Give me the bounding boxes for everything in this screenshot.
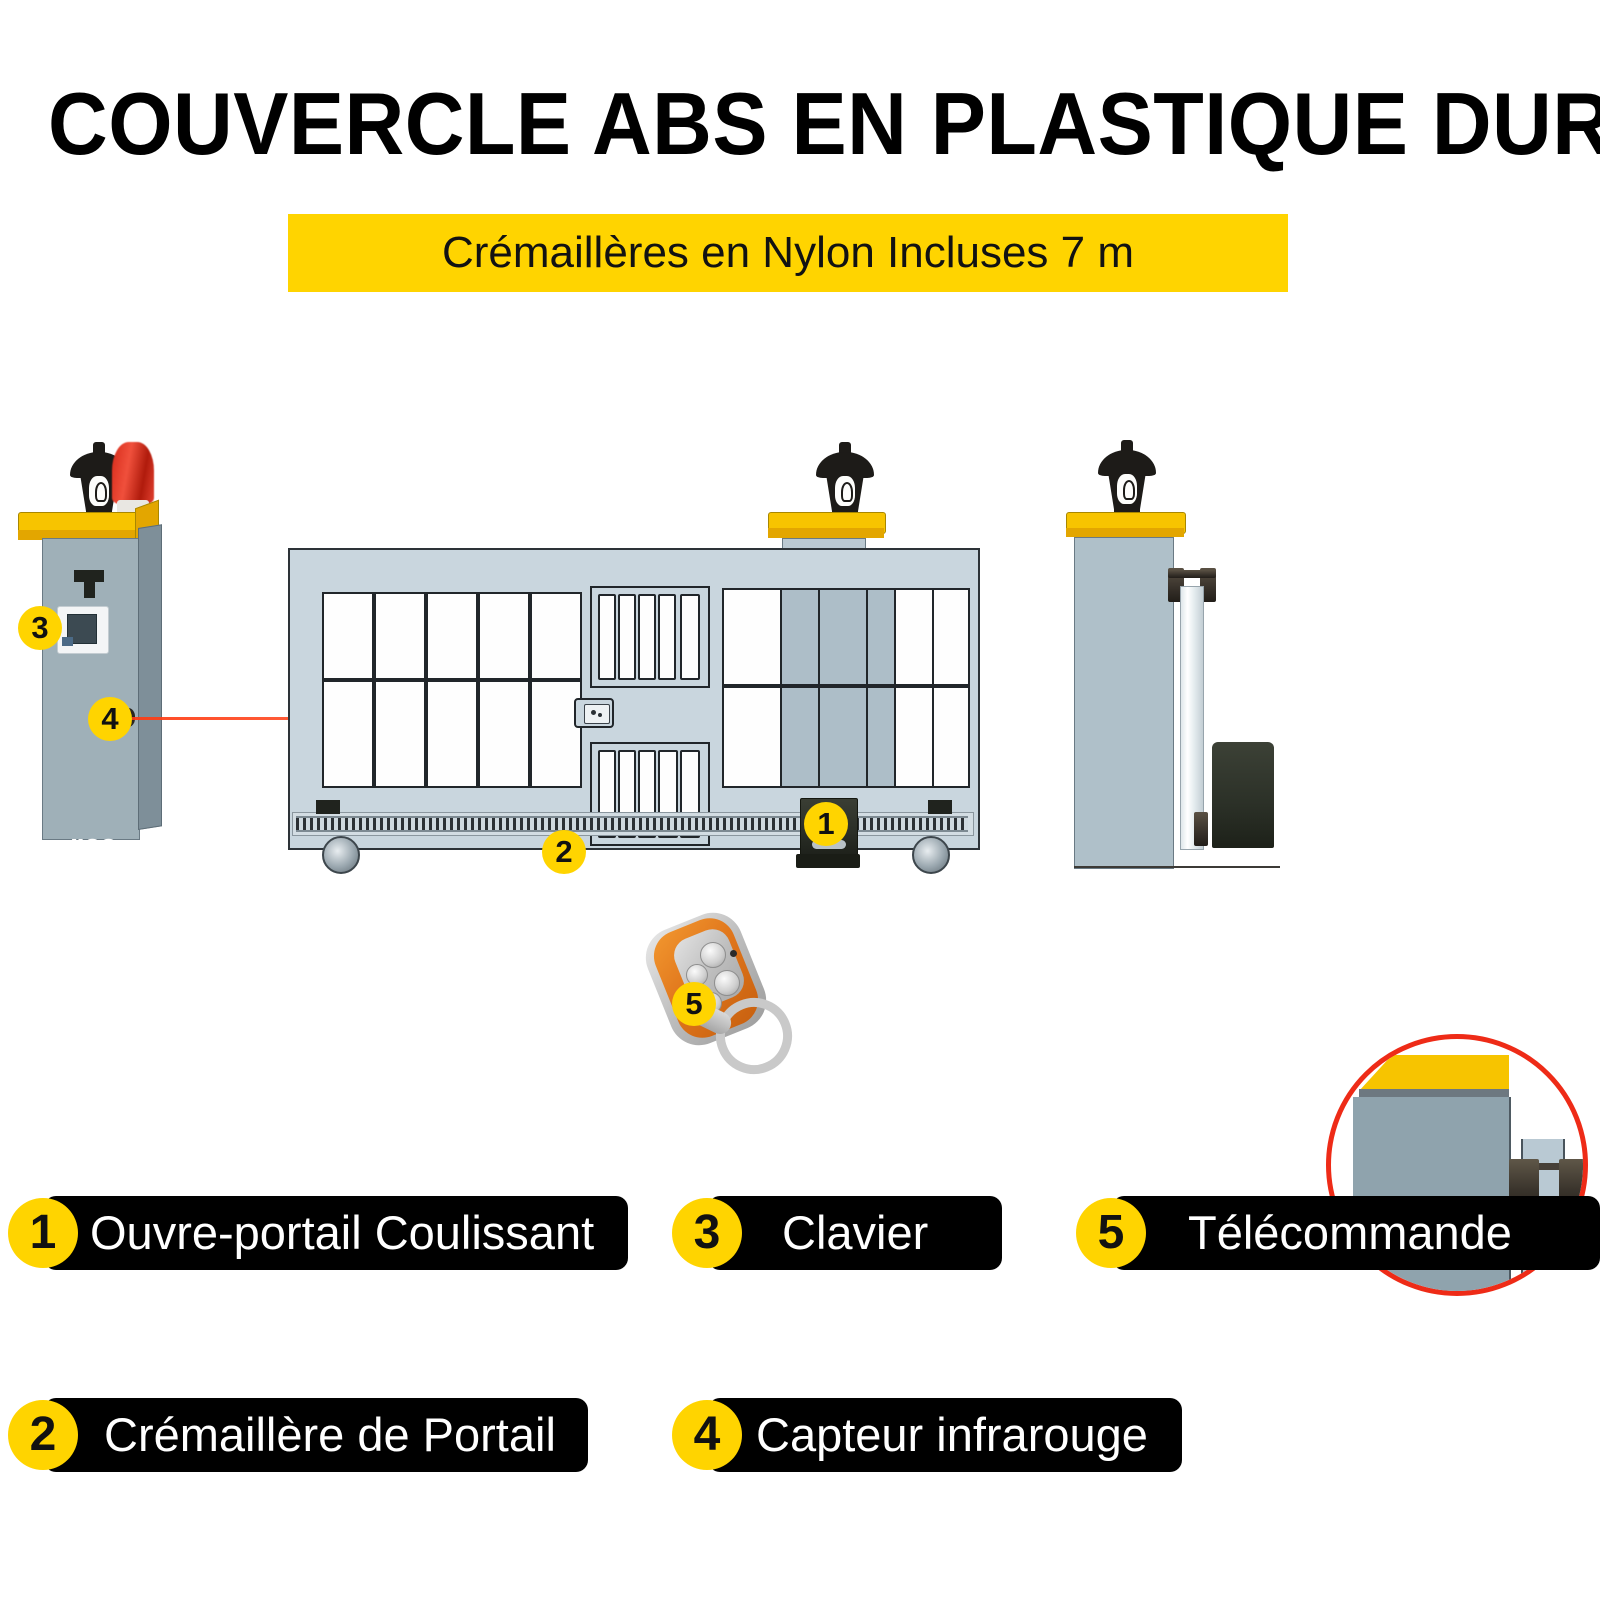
gate-slat xyxy=(598,594,616,680)
remote-led-icon xyxy=(730,950,737,957)
gate-panel-shaded xyxy=(866,686,896,788)
gate-panel xyxy=(894,686,934,788)
gate-intercom-dot xyxy=(598,713,602,717)
rack-end-stop-right xyxy=(928,800,952,814)
gate-panel-shaded xyxy=(780,686,820,788)
gate-slat xyxy=(618,594,636,680)
gate-panel xyxy=(722,588,782,686)
photocell-bracket-bottom xyxy=(1194,812,1208,846)
legend-badge-4: 4 xyxy=(672,1400,742,1470)
left-pillar-side xyxy=(138,524,162,830)
remote-button-a[interactable] xyxy=(700,942,726,968)
inset-cap-edge xyxy=(1359,1089,1509,1097)
legend-item-3[interactable]: 3 Clavier xyxy=(672,1196,1002,1270)
pillar-mount-stem-left xyxy=(84,580,95,598)
gate-panel xyxy=(374,680,426,788)
remote-button-c[interactable] xyxy=(714,970,740,996)
gate-panel xyxy=(426,680,478,788)
gate-panel xyxy=(478,680,530,788)
legend-badge-1: 1 xyxy=(8,1198,78,1268)
battery-box xyxy=(1212,742,1274,848)
right-pillar-face xyxy=(1074,537,1174,869)
legend-label-4: Capteur infrarouge xyxy=(756,1398,1148,1472)
gate-slat xyxy=(680,594,700,680)
legend-item-2[interactable]: 2 Crémaillère de Portail xyxy=(8,1398,588,1472)
keypad-key xyxy=(62,637,73,646)
page-title: COUVERCLE ABS EN PLASTIQUE DURABLE xyxy=(48,76,1552,172)
gate-panel-shaded xyxy=(866,588,896,686)
gate-panel xyxy=(530,592,582,680)
legend-item-1[interactable]: 1 Ouvre-portail Coulissant xyxy=(8,1196,628,1270)
gate-panel xyxy=(478,592,530,680)
legend-badge-3: 3 xyxy=(672,1198,742,1268)
gate-panel xyxy=(894,588,934,686)
gate-rack xyxy=(296,816,968,832)
legend-badge-2: 2 xyxy=(8,1400,78,1470)
photocell-crossbar xyxy=(1168,570,1216,578)
legend-badge-5: 5 xyxy=(1076,1198,1146,1268)
gate-slat xyxy=(658,594,676,680)
gate-panel xyxy=(426,592,478,680)
ground-line xyxy=(1074,866,1280,868)
gate-panel xyxy=(932,686,970,788)
gate-intercom-dot xyxy=(591,710,596,715)
keypad[interactable] xyxy=(57,606,109,654)
gate-panel-shaded xyxy=(818,686,868,788)
legend-item-4[interactable]: 4 Capteur infrarouge xyxy=(672,1398,1182,1472)
lantern-lamp-icon-right xyxy=(1082,440,1172,522)
legend-label-1: Ouvre-portail Coulissant xyxy=(90,1196,594,1270)
gate-panel xyxy=(932,588,970,686)
pillar-cap-front-center xyxy=(768,528,884,538)
motor-base xyxy=(796,854,860,868)
gate-panel xyxy=(530,680,582,788)
gate-intercom[interactable] xyxy=(574,698,614,728)
diagram-marker-4[interactable]: 4 xyxy=(88,697,132,741)
legend-item-5[interactable]: 5 Télécommande xyxy=(1076,1196,1600,1270)
gate-panel-shaded xyxy=(818,588,868,686)
gate-wheel-left xyxy=(322,836,360,874)
legend-label-5: Télécommande xyxy=(1188,1196,1512,1270)
subtitle-banner-text: Crémaillères en Nylon Incluses 7 m xyxy=(288,214,1288,292)
gate-panel xyxy=(722,686,782,788)
remote-control[interactable]: 5 xyxy=(638,912,808,1072)
diagram-marker-1[interactable]: 1 xyxy=(804,802,848,846)
gate-panel xyxy=(322,680,374,788)
gate-wheel-right xyxy=(912,836,950,874)
pillar-cap-front-right xyxy=(1066,528,1184,537)
diagram-marker-2[interactable]: 2 xyxy=(542,830,586,874)
legend-label-2: Crémaillère de Portail xyxy=(104,1398,556,1472)
photocell-column xyxy=(1180,586,1204,850)
inset-cap-yellow xyxy=(1359,1055,1509,1091)
legend-label-3: Clavier xyxy=(782,1196,928,1270)
gate-intercom-plate xyxy=(584,704,610,724)
gate-panel-shaded xyxy=(780,588,820,686)
gate-slat xyxy=(638,594,656,680)
pillar-size-label: "23 xyxy=(70,832,116,868)
diagram-marker-3[interactable]: 3 xyxy=(18,606,62,650)
diagram-marker-5[interactable]: 5 xyxy=(672,982,716,1026)
gate-panel xyxy=(374,592,426,680)
gate-panel xyxy=(322,592,374,680)
subtitle-banner: Crémaillères en Nylon Incluses 7 m xyxy=(288,214,1288,292)
rack-end-stop-left xyxy=(316,800,340,814)
